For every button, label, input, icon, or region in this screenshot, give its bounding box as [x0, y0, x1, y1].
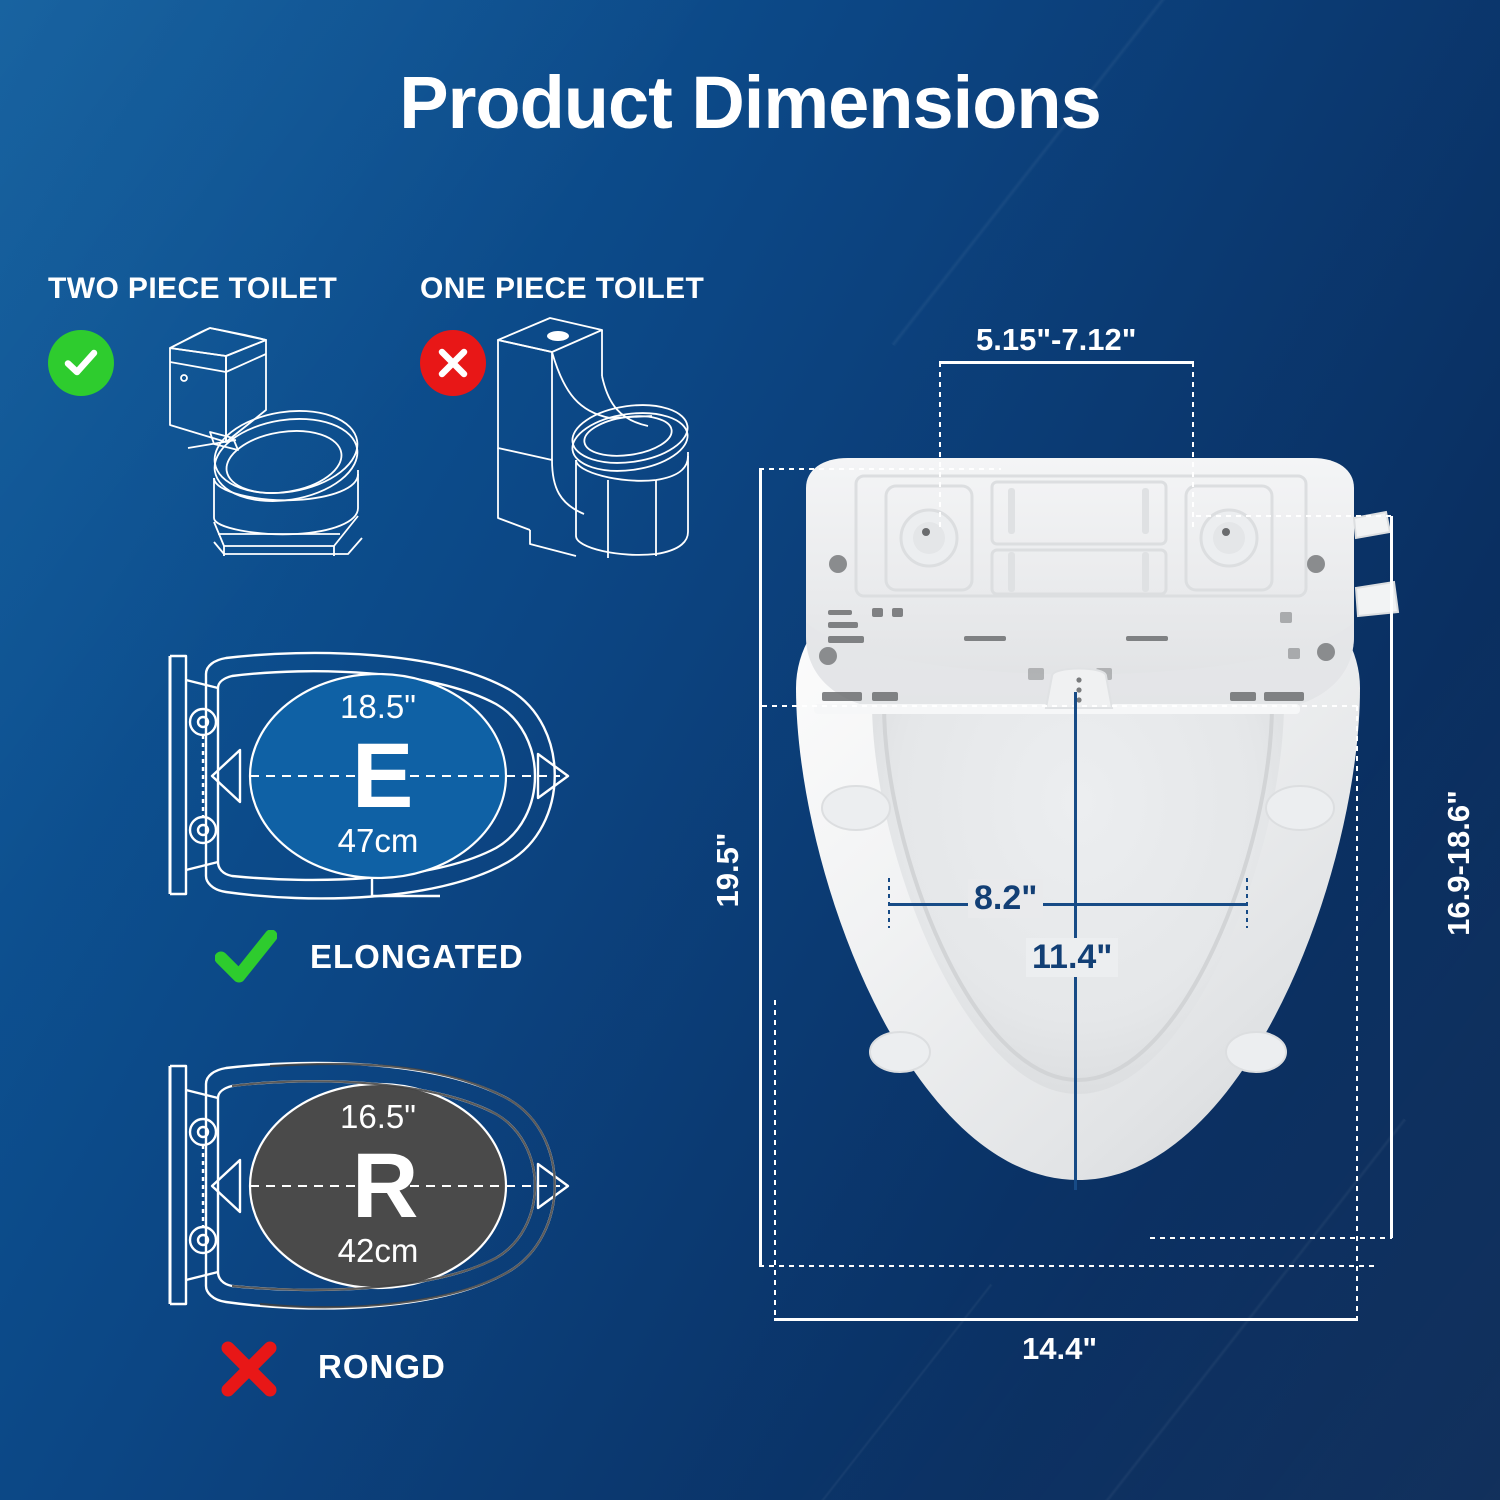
bolt-spacing-guide-left: [939, 362, 941, 528]
one-piece-toilet-illustration: [480, 308, 710, 568]
one-piece-toilet-label: ONE PIECE TOILET: [420, 272, 704, 306]
elongated-letter: E: [352, 730, 413, 822]
elongated-caption: ELONGATED: [310, 938, 524, 976]
overall-length-label: 19.5": [710, 810, 746, 930]
two-piece-compatible-badge: [48, 330, 114, 396]
toilet-seat-product-image: [760, 440, 1400, 1280]
elongated-check-icon: [215, 930, 277, 984]
one-piece-incompatible-badge: [420, 330, 486, 396]
overall-width-guide-left: [774, 1000, 776, 1320]
seat-length-dimension-line: [1390, 516, 1393, 1238]
bolt-spacing-label: 5.15"-7.12": [976, 322, 1136, 358]
overall-length-guide-top: [759, 468, 1001, 470]
page-title: Product Dimensions: [0, 60, 1500, 145]
two-piece-toilet-label: TWO PIECE TOILET: [48, 272, 337, 306]
round-cross-icon: [220, 1340, 278, 1398]
seat-length-label: 16.9-18.6": [1441, 758, 1477, 968]
round-letter: R: [352, 1140, 418, 1232]
inner-width-tick-right: [1246, 878, 1248, 928]
round-dimension-inches: 16.5": [288, 1098, 468, 1136]
seat-length-guide-top: [1196, 515, 1392, 517]
overall-length-guide-bottom: [759, 1265, 1379, 1267]
inner-width-label: 8.2": [968, 879, 1043, 918]
infographic-canvas: Product Dimensions TWO PIECE TOILET ONE …: [0, 0, 1500, 1500]
bolt-spacing-dimension-line: [939, 361, 1194, 364]
bolt-spacing-guide-right: [1192, 362, 1194, 528]
elongated-dimension-inches: 18.5": [288, 688, 468, 726]
overall-width-guide-right: [1356, 706, 1358, 1320]
background-streak-1: [891, 0, 1216, 347]
overall-width-dimension-line: [774, 1318, 1358, 1321]
inner-width-tick-left: [888, 878, 890, 928]
check-icon: [60, 342, 102, 384]
overall-width-label: 14.4": [1022, 1331, 1097, 1367]
round-dimension-cm: 42cm: [288, 1232, 468, 1270]
two-piece-toilet-illustration: [118, 310, 368, 560]
background-streak-3: [731, 1283, 993, 1500]
overall-length-dimension-line: [759, 468, 762, 1266]
cross-icon: [433, 343, 473, 383]
inner-length-label: 11.4": [1026, 938, 1118, 977]
round-caption: RONGD: [318, 1348, 446, 1386]
inner-width-dimension-line: [888, 903, 1246, 906]
elongated-dimension-cm: 47cm: [288, 822, 468, 860]
seat-ring-top-guide: [762, 705, 1358, 707]
